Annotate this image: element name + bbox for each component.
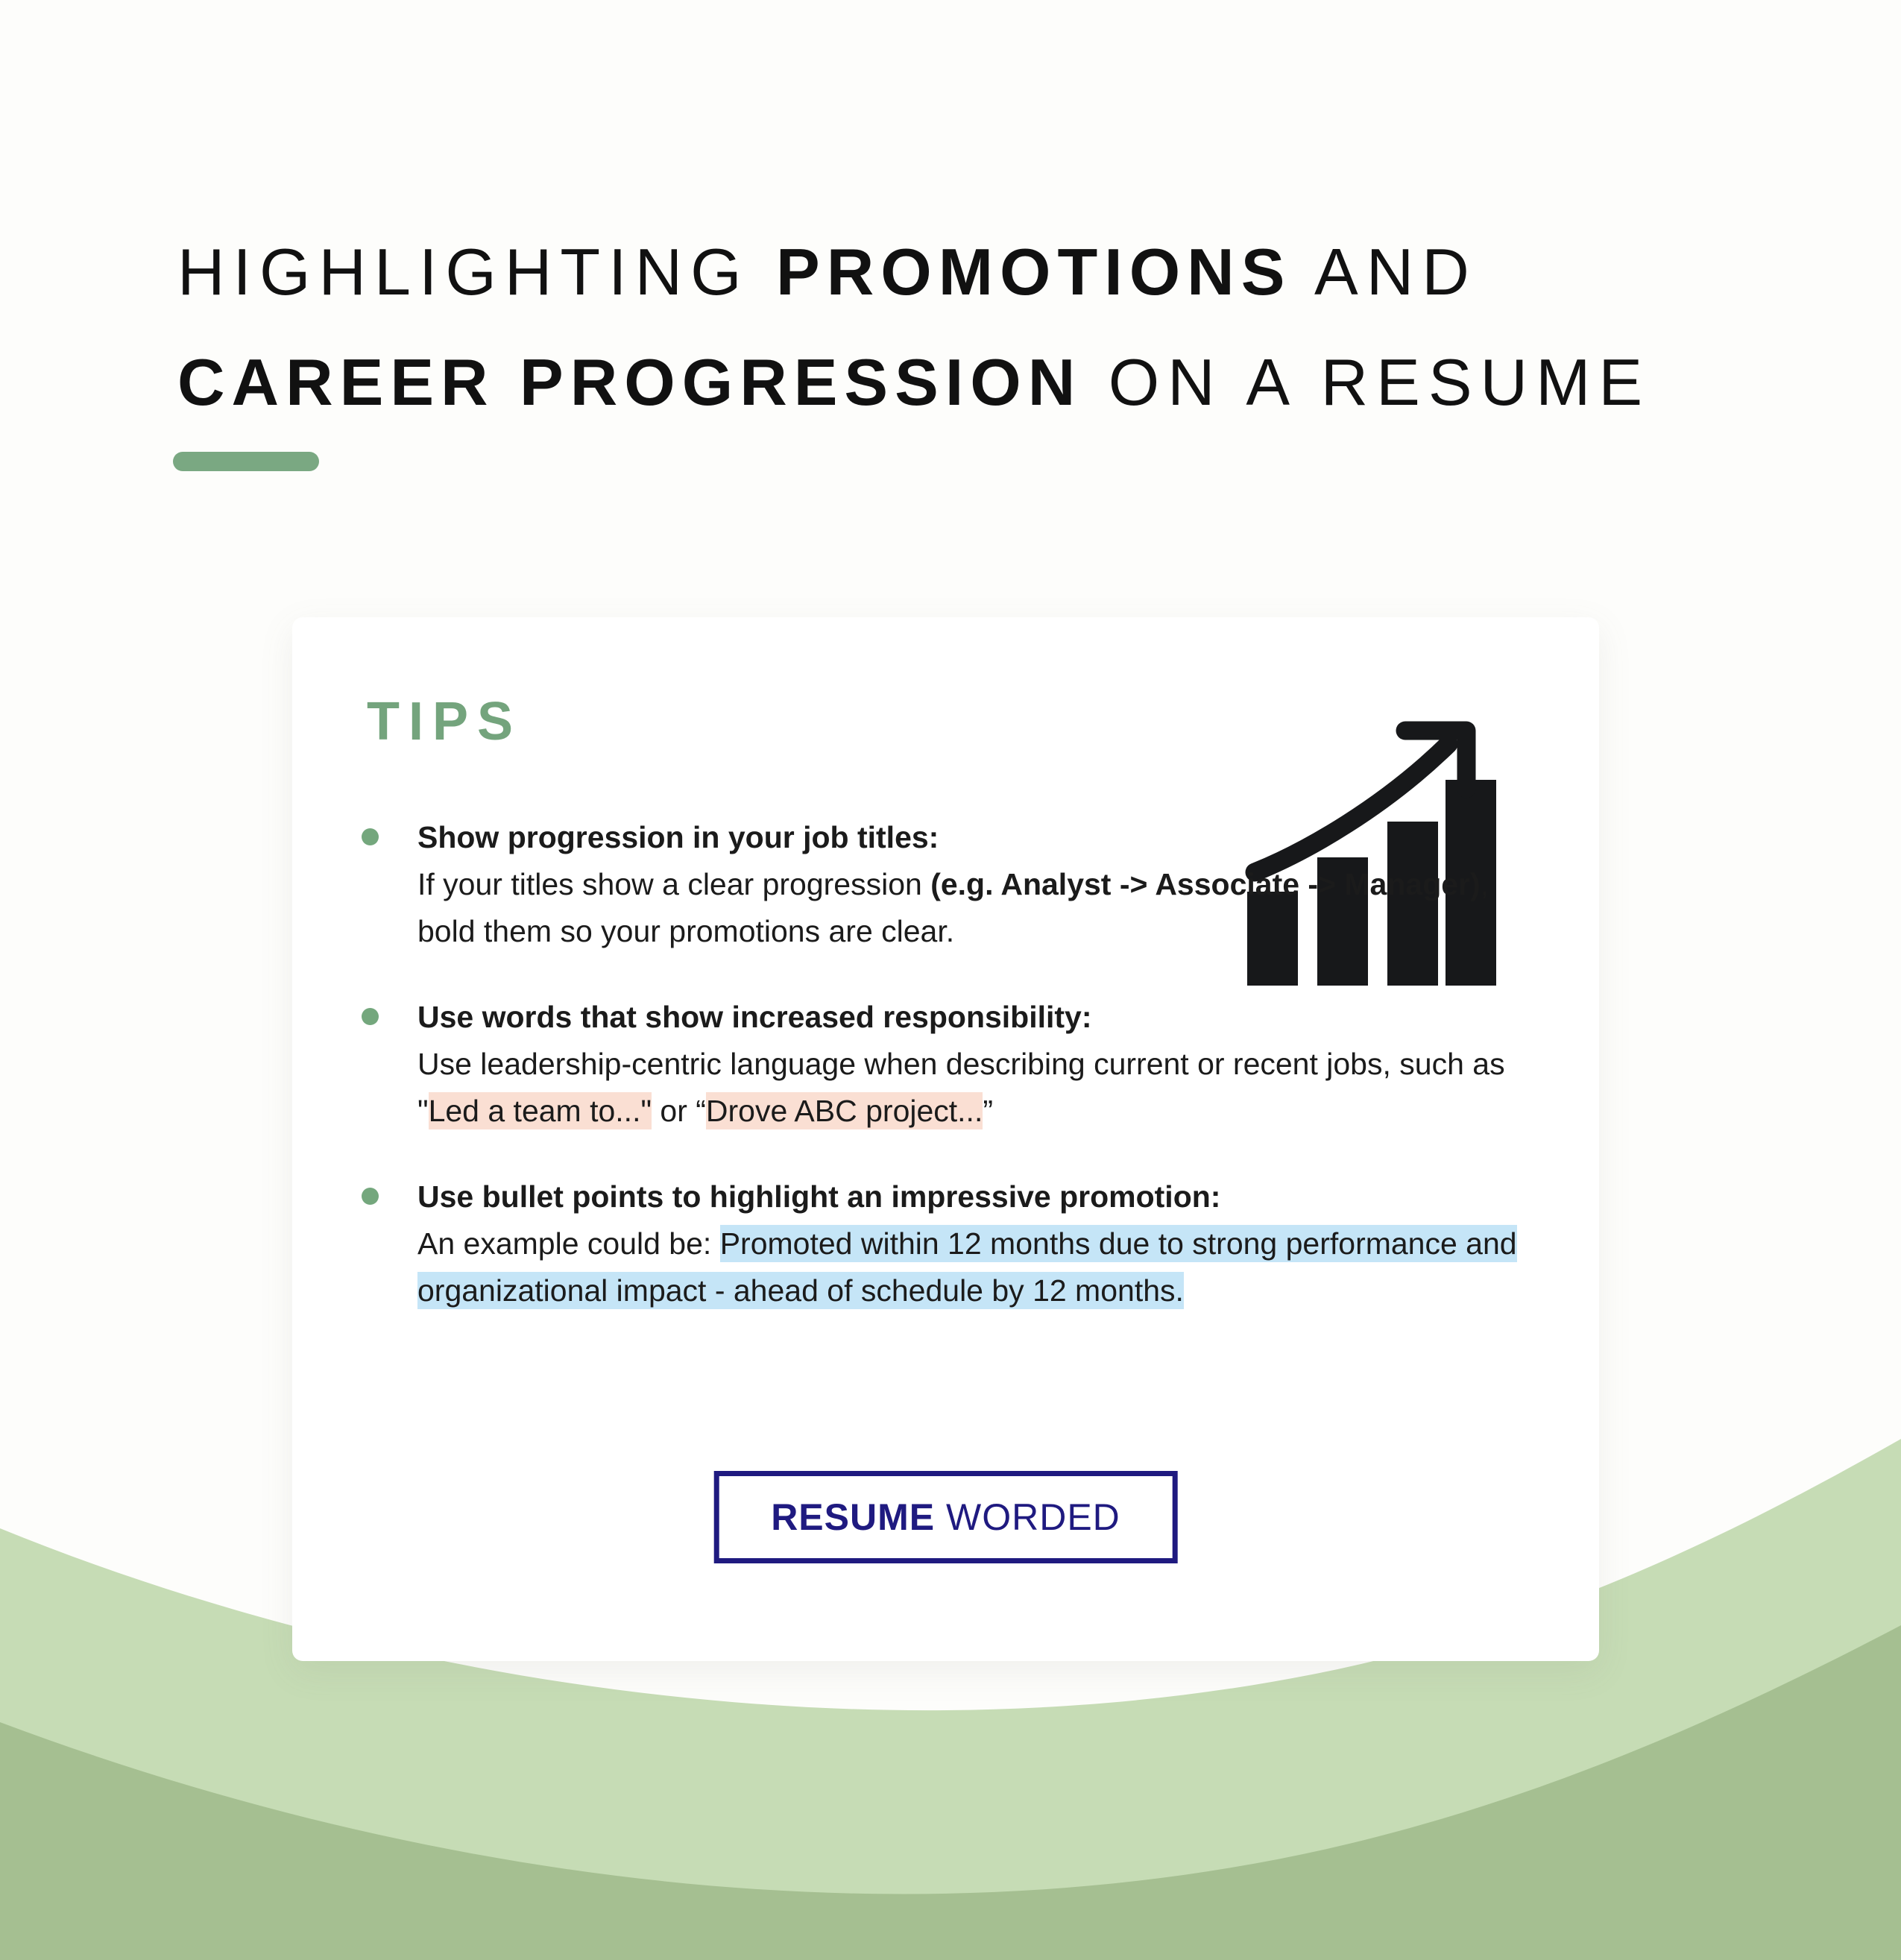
tips-list: Show progression in your job titles:If y… bbox=[362, 814, 1539, 1314]
page-title: HIGHLIGHTING PROMOTIONS AND CAREER PROGR… bbox=[177, 217, 1743, 438]
tips-heading: TIPS bbox=[367, 695, 522, 749]
logo-word-worded: WORDED bbox=[946, 1496, 1120, 1538]
title-accent-bar bbox=[173, 452, 319, 471]
title-segment-1: HIGHLIGHTING bbox=[177, 235, 776, 309]
tip-heading: Use words that show increased responsibi… bbox=[417, 1000, 1092, 1034]
tips-card: TIPS Show progression in your job titles… bbox=[292, 617, 1599, 1661]
tip-text: Show progression in your job titles:If y… bbox=[417, 814, 1539, 955]
tip-body-before: An example could be: bbox=[417, 1226, 720, 1261]
title-segment-career-progression: CAREER PROGRESSION bbox=[177, 345, 1082, 419]
logo-word-resume: RESUME bbox=[771, 1496, 935, 1538]
title-segment-5: ON A RESUME bbox=[1082, 345, 1651, 419]
tip-body-after: ” bbox=[983, 1094, 993, 1128]
title-segment-promotions: PROMOTIONS bbox=[776, 235, 1291, 309]
tip-heading: Show progression in your job titles: bbox=[417, 820, 939, 854]
highlight-led-a-team: Led a team to..." bbox=[429, 1092, 652, 1129]
resume-worded-logo-button[interactable]: RESUME WORDED bbox=[713, 1471, 1178, 1563]
tip-text: Use bullet points to highlight an impres… bbox=[417, 1173, 1539, 1314]
tip-item-responsibility-words: Use words that show increased responsibi… bbox=[362, 994, 1539, 1135]
tip-body-bold: (e.g. Analyst -> Associate -> Manager) bbox=[930, 867, 1480, 901]
wave-dark-green bbox=[0, 1625, 1901, 1960]
tip-item-bullet-points: Use bullet points to highlight an impres… bbox=[362, 1173, 1539, 1314]
bullet-dot-icon bbox=[362, 1008, 379, 1025]
tip-body-middle: or “ bbox=[652, 1094, 706, 1128]
tip-body-before: If your titles show a clear progression bbox=[417, 867, 930, 901]
bullet-dot-icon bbox=[362, 828, 379, 845]
bullet-dot-icon bbox=[362, 1188, 379, 1205]
tip-text: Use words that show increased responsibi… bbox=[417, 994, 1539, 1135]
title-segment-3: AND bbox=[1291, 235, 1477, 309]
tip-item-job-titles: Show progression in your job titles:If y… bbox=[362, 814, 1539, 955]
tip-heading: Use bullet points to highlight an impres… bbox=[417, 1179, 1220, 1214]
highlight-drove-abc-project: Drove ABC project... bbox=[706, 1092, 983, 1129]
